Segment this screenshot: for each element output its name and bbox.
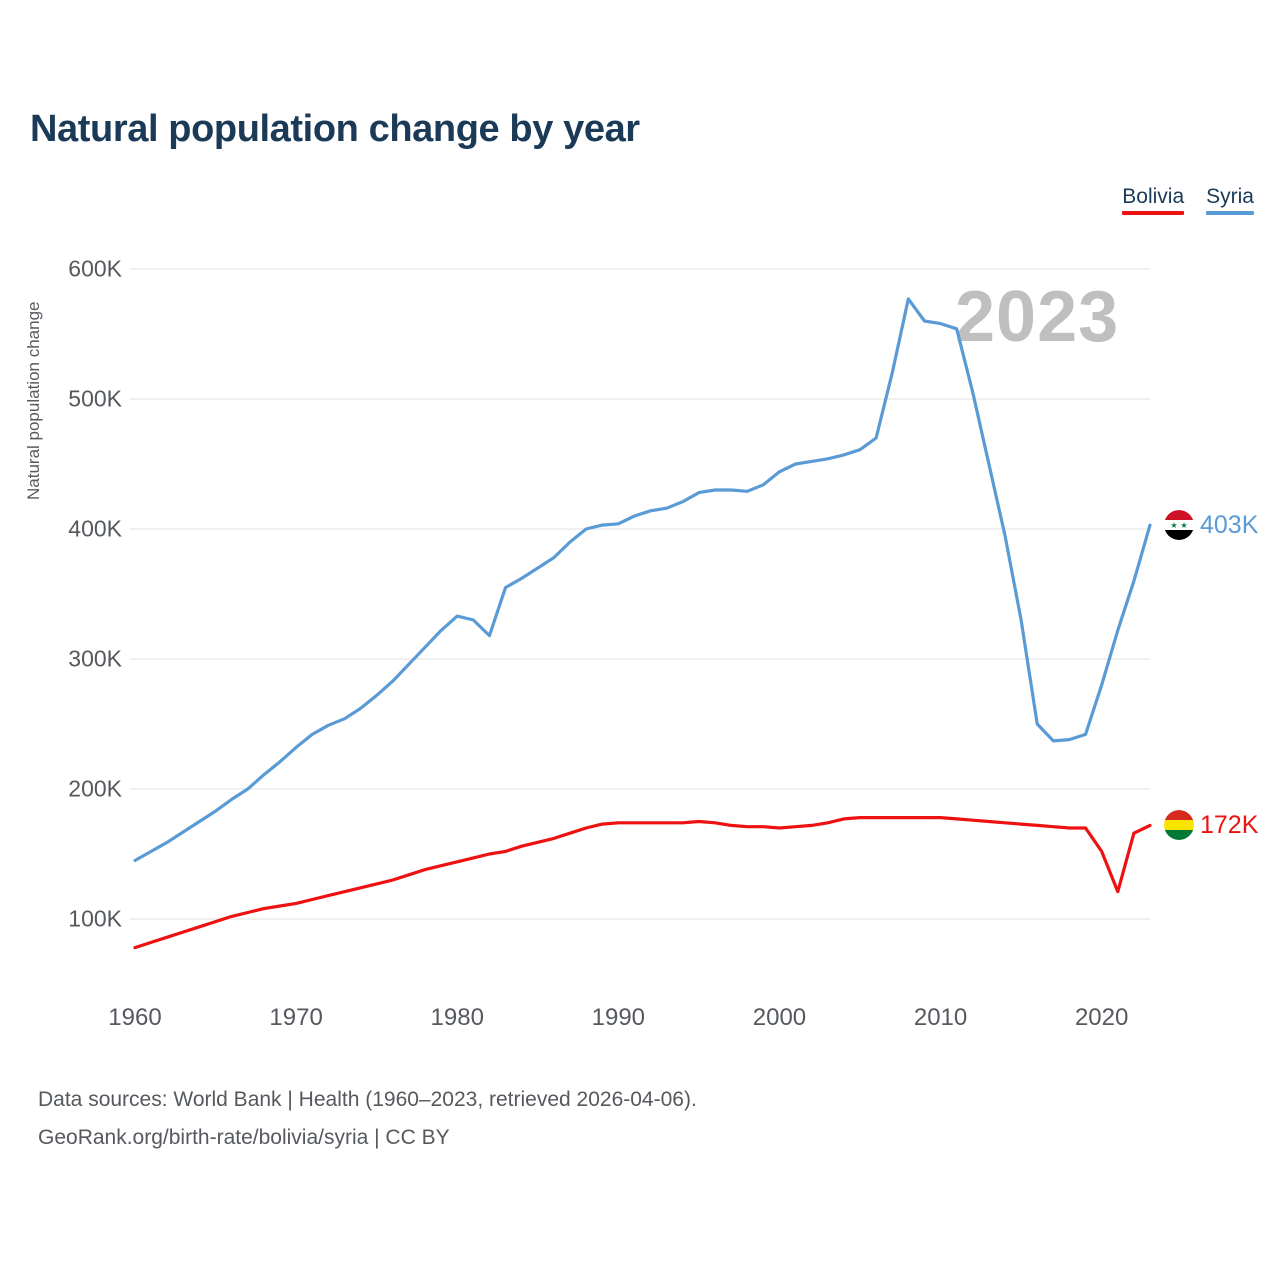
syria-flag-icon bbox=[1164, 510, 1194, 540]
y-axis-tick-label: 500K bbox=[68, 386, 122, 413]
series-lines bbox=[135, 299, 1150, 948]
x-axis-tick-label: 2000 bbox=[753, 1004, 806, 1032]
end-label-syria-value: 403K bbox=[1200, 511, 1258, 540]
x-axis-tick-label: 1970 bbox=[269, 1004, 322, 1032]
series-line-syria bbox=[135, 299, 1150, 861]
chart-page: Natural population change by year Bolivi… bbox=[0, 0, 1280, 1280]
y-axis-tick-label: 200K bbox=[68, 776, 122, 803]
bolivia-flag-icon bbox=[1164, 810, 1194, 840]
y-axis-tick-label: 400K bbox=[68, 516, 122, 543]
x-axis-tick-label: 2020 bbox=[1075, 1004, 1128, 1032]
x-axis-tick-label: 1990 bbox=[592, 1004, 645, 1032]
series-line-bolivia bbox=[135, 818, 1150, 948]
y-axis-title: Natural population change bbox=[24, 180, 44, 500]
x-axis-tick-label: 1960 bbox=[108, 1004, 161, 1032]
end-label-bolivia: 172K bbox=[1164, 810, 1258, 840]
y-axis-tick-label: 300K bbox=[68, 646, 122, 673]
y-axis-tick-label: 600K bbox=[68, 256, 122, 283]
x-axis-tick-label: 2010 bbox=[914, 1004, 967, 1032]
footer-data-sources: Data sources: World Bank | Health (1960–… bbox=[38, 1088, 697, 1112]
y-axis-tick-label: 100K bbox=[68, 906, 122, 933]
x-axis-tick-label: 1980 bbox=[431, 1004, 484, 1032]
end-label-syria: 403K bbox=[1164, 510, 1258, 540]
footer-attribution: GeoRank.org/birth-rate/bolivia/syria | C… bbox=[38, 1126, 450, 1150]
end-label-bolivia-value: 172K bbox=[1200, 811, 1258, 840]
